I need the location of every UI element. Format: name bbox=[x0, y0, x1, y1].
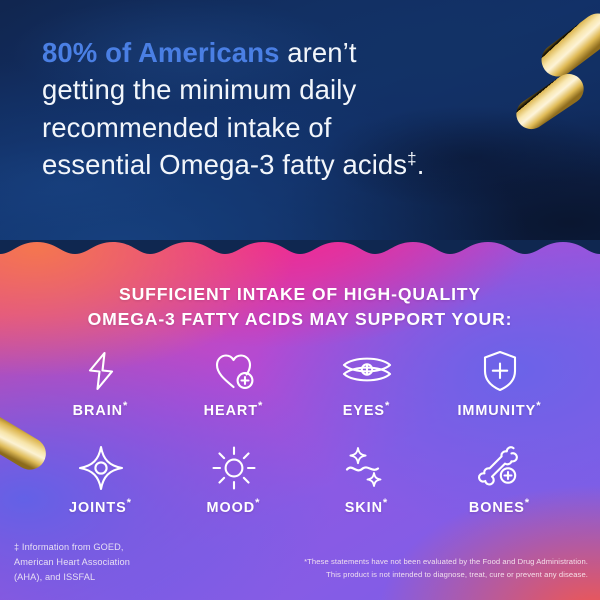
sparkle-wave-icon bbox=[343, 445, 391, 491]
benefit-label-eyes: Eyes* bbox=[343, 403, 391, 419]
benefit-label-text: Eyes bbox=[343, 403, 385, 419]
benefit-item-eyes: Eyes* bbox=[300, 348, 433, 419]
bone-plus-icon bbox=[477, 445, 523, 491]
eye-icon bbox=[341, 348, 393, 394]
benefit-label-text: Immunity bbox=[457, 403, 536, 419]
hero-line4: essential Omega-3 fatty acids bbox=[42, 149, 407, 180]
footnote-sources-line-3: (AHA), and ISSFAL bbox=[14, 570, 234, 585]
benefit-item-joints: Joints* bbox=[34, 445, 167, 516]
benefit-item-mood: Mood* bbox=[167, 445, 300, 516]
benefit-label-skin: Skin* bbox=[345, 500, 389, 516]
benefit-label-marker: * bbox=[258, 400, 263, 412]
benefit-label-marker: * bbox=[536, 400, 541, 412]
sun-icon bbox=[211, 445, 257, 491]
benefit-label-marker: * bbox=[385, 400, 390, 412]
benefit-label-joints: Joints* bbox=[69, 500, 132, 516]
benefit-label-heart: Heart* bbox=[204, 403, 264, 419]
benefit-label-text: Skin bbox=[345, 500, 383, 516]
benefit-label-marker: * bbox=[255, 497, 260, 509]
benefit-item-brain: Brain* bbox=[34, 348, 167, 419]
benefit-item-skin: Skin* bbox=[300, 445, 433, 516]
heart-plus-icon bbox=[212, 348, 256, 394]
benefit-label-mood: Mood* bbox=[207, 500, 261, 516]
benefit-label-text: Brain bbox=[73, 403, 123, 419]
fda-disclaimer-line-1: *These statements have not been evaluate… bbox=[238, 556, 588, 569]
benefit-item-heart: Heart* bbox=[167, 348, 300, 419]
hero-footnote-marker: ‡ bbox=[407, 149, 417, 168]
lightning-bolt-icon bbox=[81, 348, 121, 394]
omega3-infographic: 80% of Americans aren’t getting the mini… bbox=[0, 0, 600, 600]
benefit-label-marker: * bbox=[127, 497, 132, 509]
benefit-label-marker: * bbox=[383, 497, 388, 509]
hero-highlight: 80% of Americans bbox=[42, 37, 280, 68]
benefit-label-immunity: Immunity* bbox=[457, 403, 541, 419]
benefit-label-bones: Bones* bbox=[469, 500, 530, 516]
hero-line2: getting the minimum daily bbox=[42, 74, 356, 105]
benefit-item-bones: Bones* bbox=[433, 445, 566, 516]
benefit-label-brain: Brain* bbox=[73, 403, 129, 419]
benefit-label-marker: * bbox=[123, 400, 128, 412]
benefit-label-text: Heart bbox=[204, 403, 258, 419]
footnote-sources: ‡ Information from GOED, American Heart … bbox=[14, 540, 234, 585]
footnote-sources-line-2: American Heart Association bbox=[14, 555, 234, 570]
footnote-sources-line-1: ‡ Information from GOED, bbox=[14, 540, 234, 555]
hero-line3: recommended intake of bbox=[42, 112, 331, 143]
benefit-item-immunity: Immunity* bbox=[433, 348, 566, 419]
benefit-label-text: Bones bbox=[469, 500, 525, 516]
hero-line1-rest: aren’t bbox=[280, 37, 357, 68]
four-point-star-icon bbox=[78, 445, 124, 491]
fda-disclaimer-line-2: This product is not intended to diagnose… bbox=[238, 569, 588, 582]
benefit-label-text: Mood bbox=[207, 500, 256, 516]
benefit-label-marker: * bbox=[525, 497, 530, 509]
footnote-fda-disclaimer: *These statements have not been evaluate… bbox=[238, 556, 588, 582]
benefits-kicker: Sufficient intake of high-quality Omega-… bbox=[0, 282, 600, 332]
hero-headline: 80% of Americans aren’t getting the mini… bbox=[42, 34, 472, 184]
kicker-line-1: Sufficient intake of high-quality bbox=[0, 282, 600, 307]
benefits-grid: Brain* Heart* E bbox=[34, 348, 566, 516]
benefit-label-text: Joints bbox=[69, 500, 127, 516]
hero-line4-period: . bbox=[417, 149, 425, 180]
kicker-line-2: Omega-3 fatty acids may support your: bbox=[0, 307, 600, 332]
shield-plus-icon bbox=[481, 348, 519, 394]
